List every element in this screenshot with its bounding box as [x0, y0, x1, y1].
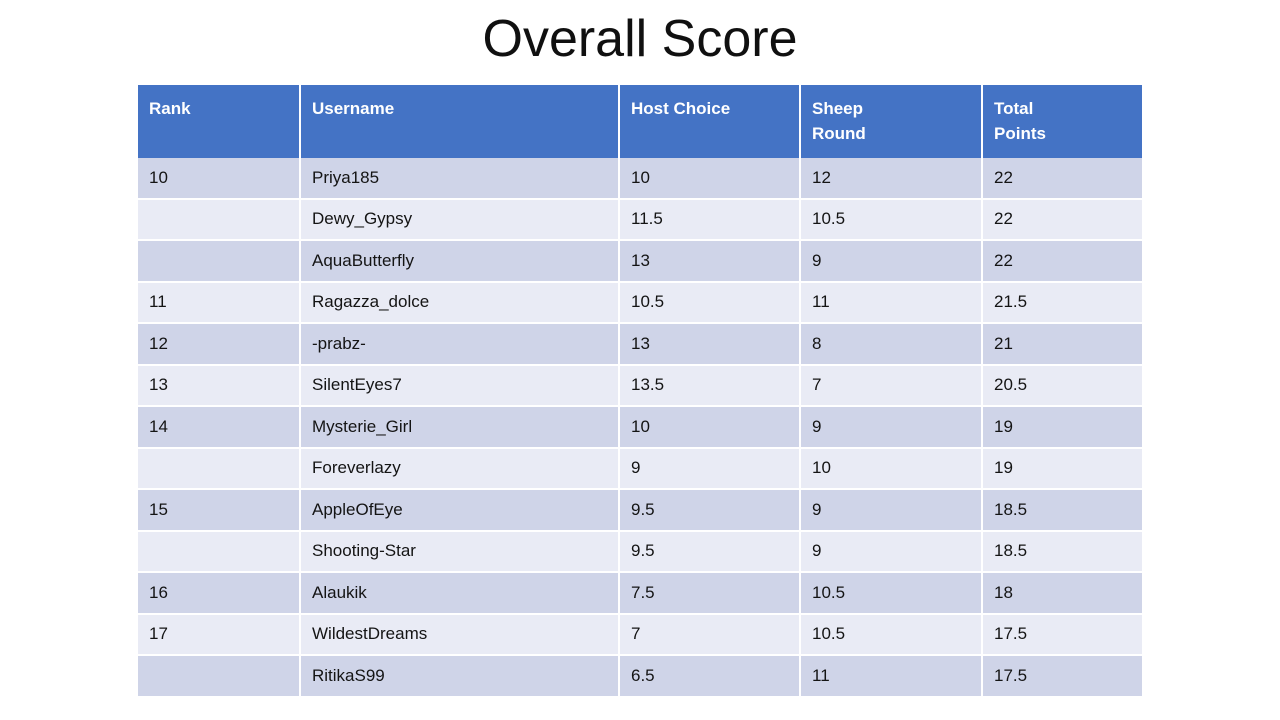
- cell-rank: [138, 240, 300, 282]
- cell-sheep: 11: [800, 282, 982, 324]
- cell-total: 18: [982, 572, 1142, 614]
- cell-sheep: 10: [800, 448, 982, 490]
- cell-host: 7: [619, 614, 800, 656]
- table-header: Rank Username Host Choice Sheep Round To…: [138, 85, 1142, 158]
- cell-sheep: 10.5: [800, 614, 982, 656]
- cell-rank: 14: [138, 406, 300, 448]
- cell-host: 7.5: [619, 572, 800, 614]
- cell-rank: [138, 531, 300, 573]
- cell-sheep: 12: [800, 158, 982, 199]
- table-row[interactable]: Dewy_Gypsy11.510.522: [138, 199, 1142, 241]
- cell-rank: 16: [138, 572, 300, 614]
- cell-host: 13: [619, 323, 800, 365]
- cell-rank: 10: [138, 158, 300, 199]
- cell-total: 18.5: [982, 531, 1142, 573]
- cell-total: 20.5: [982, 365, 1142, 407]
- table-row[interactable]: Shooting-Star9.5918.5: [138, 531, 1142, 573]
- table-body: 10Priya185101222Dewy_Gypsy11.510.522Aqua…: [138, 158, 1142, 696]
- table-row[interactable]: 13SilentEyes713.5720.5: [138, 365, 1142, 407]
- cell-username: Dewy_Gypsy: [300, 199, 619, 241]
- column-header-rank[interactable]: Rank: [138, 85, 300, 158]
- cell-sheep: 9: [800, 489, 982, 531]
- cell-username: SilentEyes7: [300, 365, 619, 407]
- table-row[interactable]: Foreverlazy91019: [138, 448, 1142, 490]
- table-row[interactable]: RitikaS996.51117.5: [138, 655, 1142, 696]
- table-row[interactable]: 12-prabz-13821: [138, 323, 1142, 365]
- cell-total: 17.5: [982, 614, 1142, 656]
- cell-rank: 15: [138, 489, 300, 531]
- page-title: Overall Score: [0, 8, 1280, 70]
- table-row[interactable]: AquaButterfly13922: [138, 240, 1142, 282]
- cell-total: 22: [982, 158, 1142, 199]
- column-header-total-points[interactable]: Total Points: [982, 85, 1142, 158]
- table-header-row: Rank Username Host Choice Sheep Round To…: [138, 85, 1142, 158]
- cell-username: Priya185: [300, 158, 619, 199]
- cell-total: 19: [982, 406, 1142, 448]
- column-header-username[interactable]: Username: [300, 85, 619, 158]
- cell-host: 10: [619, 406, 800, 448]
- cell-rank: [138, 655, 300, 696]
- cell-rank: 13: [138, 365, 300, 407]
- cell-host: 9.5: [619, 531, 800, 573]
- cell-rank: 17: [138, 614, 300, 656]
- cell-sheep: 9: [800, 240, 982, 282]
- cell-username: Shooting-Star: [300, 531, 619, 573]
- cell-username: Foreverlazy: [300, 448, 619, 490]
- cell-username: -prabz-: [300, 323, 619, 365]
- cell-sheep: 8: [800, 323, 982, 365]
- cell-total: 22: [982, 199, 1142, 241]
- column-header-sheep-round[interactable]: Sheep Round: [800, 85, 982, 158]
- cell-sheep: 9: [800, 531, 982, 573]
- cell-username: AquaButterfly: [300, 240, 619, 282]
- cell-rank: [138, 199, 300, 241]
- cell-host: 13: [619, 240, 800, 282]
- cell-host: 10: [619, 158, 800, 199]
- cell-total: 19: [982, 448, 1142, 490]
- table-row[interactable]: 14Mysterie_Girl10919: [138, 406, 1142, 448]
- cell-username: Ragazza_dolce: [300, 282, 619, 324]
- table-row[interactable]: 10Priya185101222: [138, 158, 1142, 199]
- cell-host: 10.5: [619, 282, 800, 324]
- cell-rank: [138, 448, 300, 490]
- cell-host: 9.5: [619, 489, 800, 531]
- slide: Overall Score Rank Username Host Choice …: [0, 0, 1280, 720]
- cell-username: Mysterie_Girl: [300, 406, 619, 448]
- table-row[interactable]: 16Alaukik7.510.518: [138, 572, 1142, 614]
- table-row[interactable]: 15AppleOfEye9.5918.5: [138, 489, 1142, 531]
- cell-username: AppleOfEye: [300, 489, 619, 531]
- cell-total: 18.5: [982, 489, 1142, 531]
- cell-rank: 11: [138, 282, 300, 324]
- cell-sheep: 7: [800, 365, 982, 407]
- cell-sheep: 11: [800, 655, 982, 696]
- overall-score-table: Rank Username Host Choice Sheep Round To…: [138, 85, 1142, 696]
- cell-host: 6.5: [619, 655, 800, 696]
- table-row[interactable]: 11Ragazza_dolce10.51121.5: [138, 282, 1142, 324]
- cell-username: Alaukik: [300, 572, 619, 614]
- cell-total: 22: [982, 240, 1142, 282]
- table-row[interactable]: 17WildestDreams710.517.5: [138, 614, 1142, 656]
- cell-sheep: 10.5: [800, 572, 982, 614]
- cell-total: 21: [982, 323, 1142, 365]
- cell-total: 17.5: [982, 655, 1142, 696]
- cell-sheep: 9: [800, 406, 982, 448]
- cell-total: 21.5: [982, 282, 1142, 324]
- cell-sheep: 10.5: [800, 199, 982, 241]
- column-header-host-choice[interactable]: Host Choice: [619, 85, 800, 158]
- cell-rank: 12: [138, 323, 300, 365]
- cell-username: WildestDreams: [300, 614, 619, 656]
- cell-host: 9: [619, 448, 800, 490]
- cell-username: RitikaS99: [300, 655, 619, 696]
- cell-host: 11.5: [619, 199, 800, 241]
- cell-host: 13.5: [619, 365, 800, 407]
